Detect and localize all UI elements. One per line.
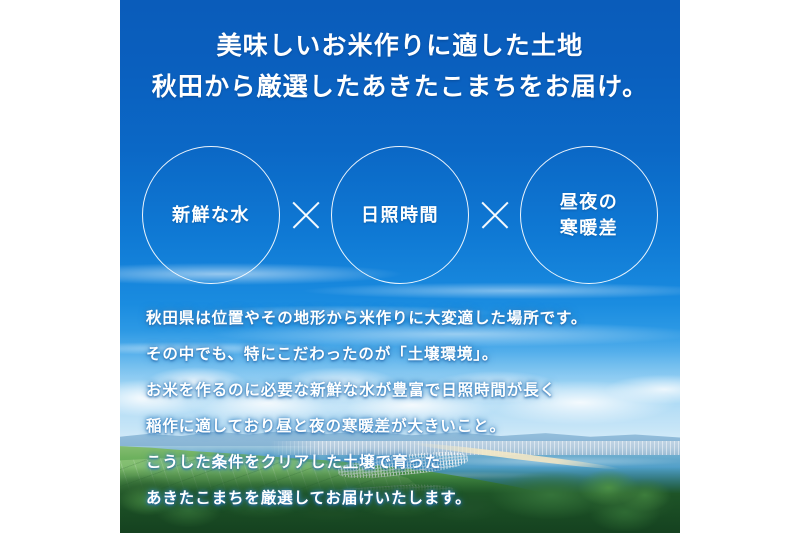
multiply-icon-1	[291, 200, 321, 230]
body-copy: 秋田県は位置やその地形から米作りに大変適した場所です。 その中でも、特にこだわっ…	[146, 308, 660, 510]
body-line-6: あきたこまちを厳選してお届けいたします。	[146, 488, 660, 510]
factor-label-sunshine-hours: 日照時間	[361, 202, 439, 228]
factor-label-temperature-range: 昼夜の 寒暖差	[560, 189, 619, 241]
factor-circle-fresh-water: 新鮮な水	[142, 146, 280, 284]
body-line-4: 稲作に適しており昼と夜の寒暖差が大きいこと。	[146, 416, 660, 438]
headline-line-1: 美味しいお米作りに適した土地	[120, 26, 680, 67]
body-line-2: その中でも、特にこだわったのが「土壌環境」。	[146, 344, 660, 366]
body-line-5: こうした条件をクリアした土壌で育った	[146, 452, 660, 474]
screenshot-root: 美味しいお米作りに適した土地 秋田から厳選したあきたこまちをお届け。 新鮮な水 …	[0, 0, 800, 533]
factor-circle-temperature-range: 昼夜の 寒暖差	[520, 146, 658, 284]
headline-line-2: 秋田から厳選したあきたこまちをお届け。	[120, 67, 680, 108]
body-line-3: お米を作るのに必要な新鮮な水が豊富で日照時間が長く	[146, 380, 660, 402]
factor-circles: 新鮮な水 日照時間 昼夜の 寒暖差	[142, 144, 658, 286]
headline: 美味しいお米作りに適した土地 秋田から厳選したあきたこまちをお届け。	[120, 26, 680, 107]
factor-circle-sunshine-hours: 日照時間	[331, 146, 469, 284]
factor-label-fresh-water: 新鮮な水	[172, 202, 250, 228]
multiply-icon-2	[480, 200, 510, 230]
promo-banner: 美味しいお米作りに適した土地 秋田から厳選したあきたこまちをお届け。 新鮮な水 …	[120, 0, 680, 533]
body-line-1: 秋田県は位置やその地形から米作りに大変適した場所です。	[146, 308, 660, 330]
